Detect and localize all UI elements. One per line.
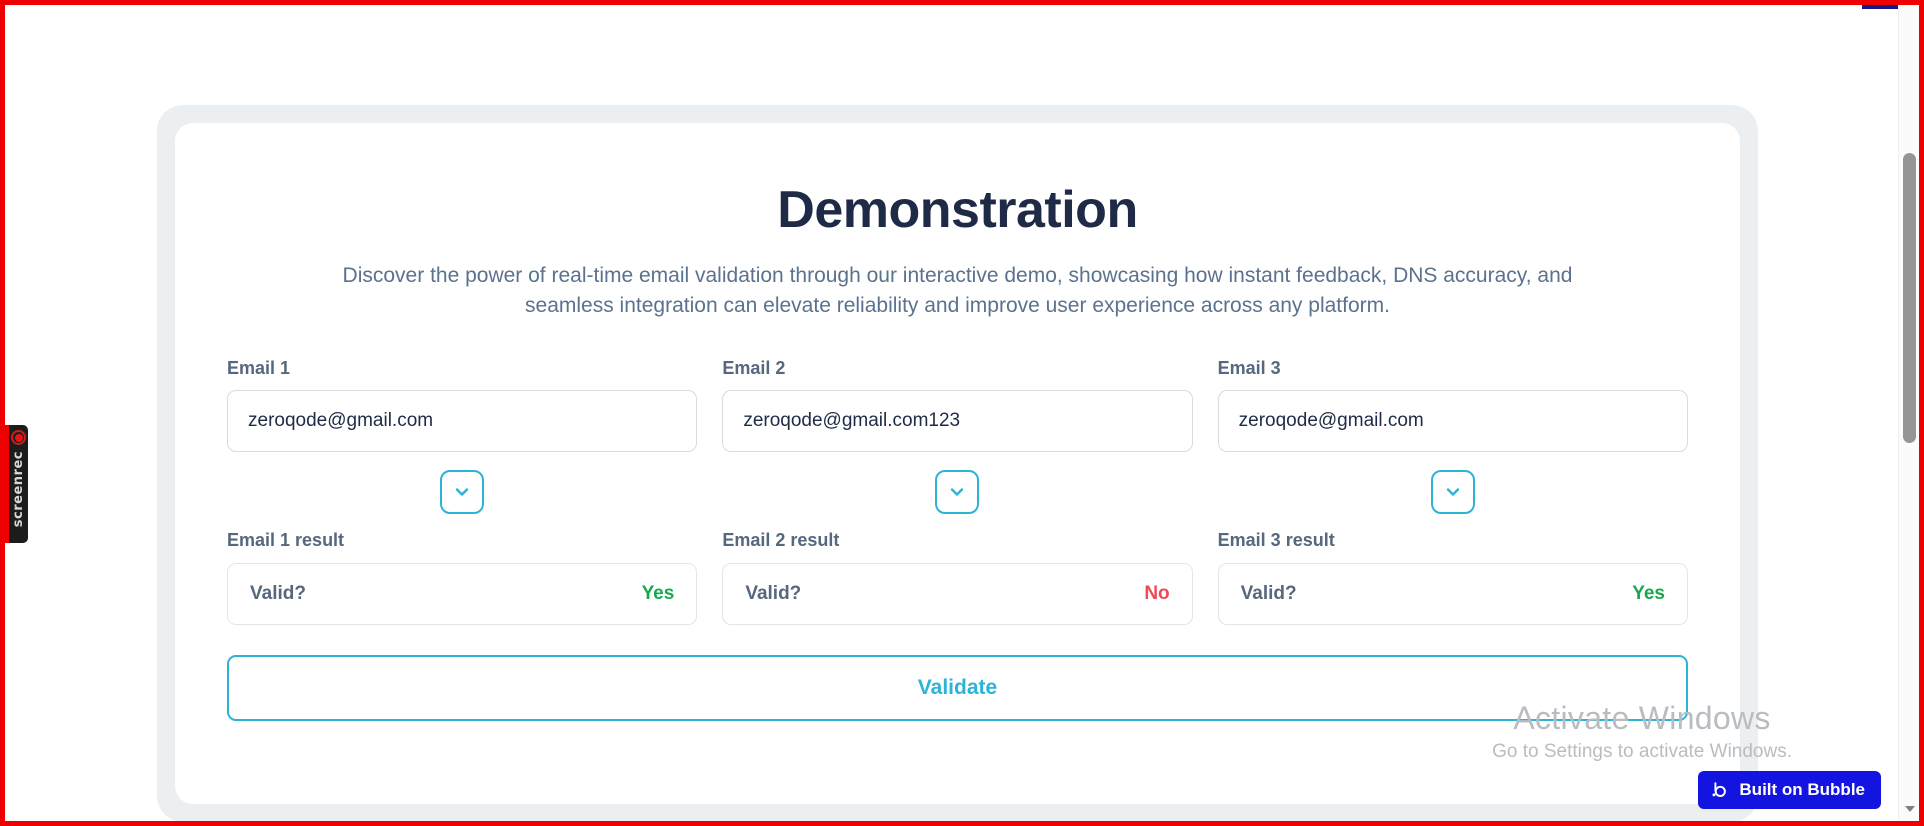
email-3-toggle-cell: [1218, 470, 1688, 514]
email-1-result-label: Email 1 result: [227, 530, 697, 552]
scrollbar-thumb[interactable]: [1903, 153, 1916, 443]
email-2-toggle-cell: [722, 470, 1192, 514]
email-2-result-column: Email 2 result Valid? No: [722, 530, 1192, 625]
email-1-label: Email 1: [227, 358, 697, 380]
email-3-result-column: Email 3 result Valid? Yes: [1218, 530, 1688, 625]
email-1-column: Email 1: [227, 358, 697, 453]
scroll-down-arrow-icon[interactable]: [1899, 799, 1920, 819]
demo-card: Demonstration Discover the power of real…: [175, 123, 1740, 804]
email-inputs-row: Email 1 Email 2 Email 3: [227, 358, 1688, 453]
window-top-stub: [1862, 5, 1898, 9]
email-2-input[interactable]: [722, 390, 1192, 452]
email-2-column: Email 2: [722, 358, 1192, 453]
email-2-expand-button[interactable]: [935, 470, 979, 514]
browser-viewport: Demonstration Discover the power of real…: [5, 5, 1898, 821]
email-1-input[interactable]: [227, 390, 697, 452]
email-3-result-label: Email 3 result: [1218, 530, 1688, 552]
bubble-b-logo-icon: [1710, 780, 1730, 800]
built-on-bubble-label: Built on Bubble: [1739, 780, 1865, 800]
email-3-column: Email 3: [1218, 358, 1688, 453]
email-2-label: Email 2: [722, 358, 1192, 380]
recorded-screen: Demonstration Discover the power of real…: [0, 0, 1924, 826]
email-1-toggle-cell: [227, 470, 697, 514]
email-1-result-box: Valid? Yes: [227, 563, 697, 625]
email-3-result-key: Valid?: [1241, 583, 1297, 605]
email-3-result-box: Valid? Yes: [1218, 563, 1688, 625]
email-2-result-value: No: [1144, 583, 1169, 605]
email-1-result-key: Valid?: [250, 583, 306, 605]
chevron-down-icon: [452, 482, 472, 502]
vertical-scrollbar[interactable]: [1898, 5, 1919, 821]
page-shell: Demonstration Discover the power of real…: [157, 105, 1758, 821]
screenrec-tab[interactable]: screenrec: [5, 425, 28, 543]
email-2-result-label: Email 2 result: [722, 530, 1192, 552]
toggle-buttons-row: [227, 470, 1688, 514]
email-3-label: Email 3: [1218, 358, 1688, 380]
email-1-expand-button[interactable]: [440, 470, 484, 514]
screenrec-label: screenrec: [11, 451, 26, 527]
chevron-down-icon: [947, 482, 967, 502]
email-3-expand-button[interactable]: [1431, 470, 1475, 514]
page-subtitle: Discover the power of real-time email va…: [308, 261, 1608, 322]
page-title: Demonstration: [227, 181, 1688, 241]
email-2-result-box: Valid? No: [722, 563, 1192, 625]
email-1-result-value: Yes: [642, 583, 675, 605]
email-2-result-key: Valid?: [745, 583, 801, 605]
email-3-result-value: Yes: [1632, 583, 1665, 605]
chevron-down-icon: [1443, 482, 1463, 502]
record-dot-icon: [11, 430, 26, 445]
email-1-result-column: Email 1 result Valid? Yes: [227, 530, 697, 625]
results-row: Email 1 result Valid? Yes Email 2 result…: [227, 530, 1688, 625]
email-3-input[interactable]: [1218, 390, 1688, 452]
validate-button[interactable]: Validate: [227, 655, 1688, 721]
built-on-bubble-badge[interactable]: Built on Bubble: [1698, 771, 1881, 809]
